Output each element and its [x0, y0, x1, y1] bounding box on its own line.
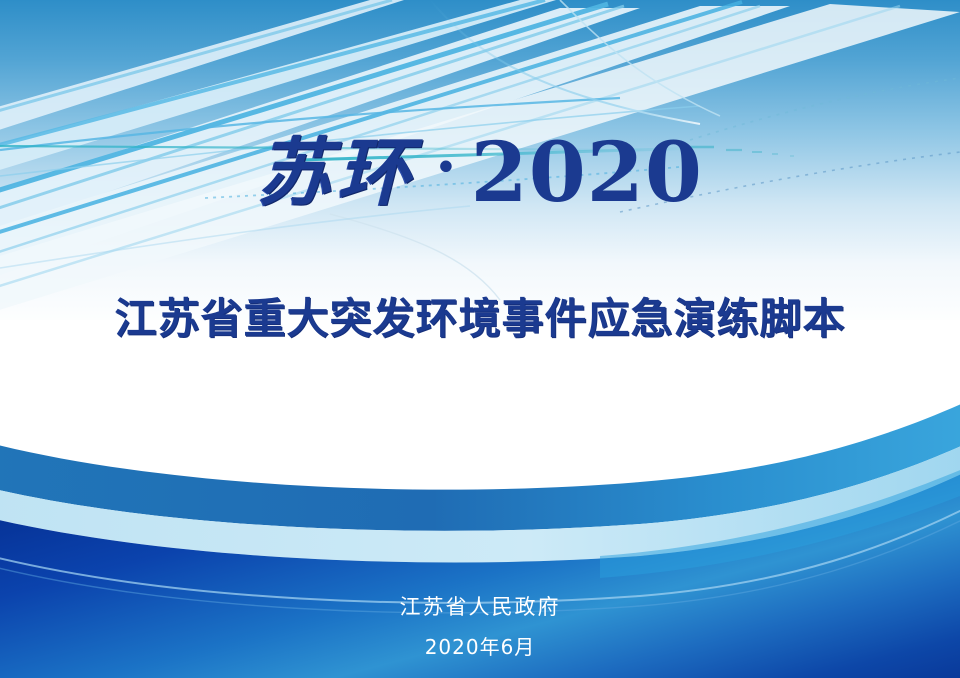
title-block: 苏环·2020	[0, 132, 960, 214]
main-title: 苏环·2020	[257, 132, 703, 214]
subtitle: 江苏省重大突发环境事件应急演练脚本	[0, 296, 960, 342]
main-title-separator: ·	[417, 130, 471, 203]
main-title-chinese: 苏环	[257, 130, 417, 216]
presentation-title-slide: 苏环·2020 江苏省重大突发环境事件应急演练脚本 江苏省人民政府 2020年6…	[0, 0, 960, 678]
footer-block: 江苏省人民政府 2020年6月	[0, 592, 960, 662]
footer-organization: 江苏省人民政府	[0, 592, 960, 622]
main-title-year: 2020	[471, 125, 703, 221]
footer-date: 2020年6月	[0, 632, 960, 662]
